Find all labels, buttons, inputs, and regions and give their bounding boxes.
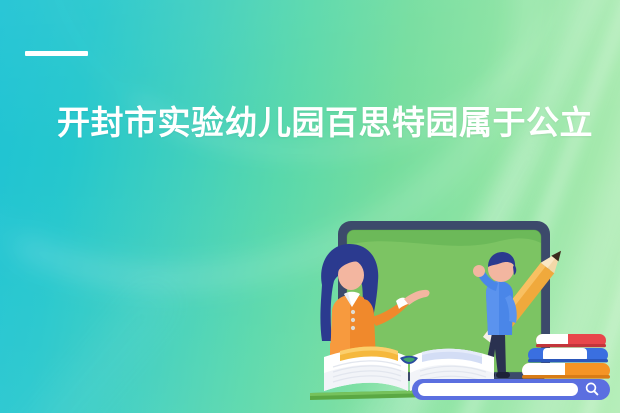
book-blue (528, 348, 608, 362)
magnifier-icon (583, 381, 601, 399)
teacher-student-chalkboard-illustration (300, 215, 620, 413)
search-bar-graphic (412, 379, 610, 400)
book-red (536, 334, 606, 347)
page-title: 开封市实验幼儿园百思特园属于公立 (57, 103, 577, 143)
promo-banner: 开封市实验幼儿园百思特园属于公立 (0, 0, 620, 413)
accent-line (25, 51, 88, 56)
book-orange (522, 363, 610, 379)
